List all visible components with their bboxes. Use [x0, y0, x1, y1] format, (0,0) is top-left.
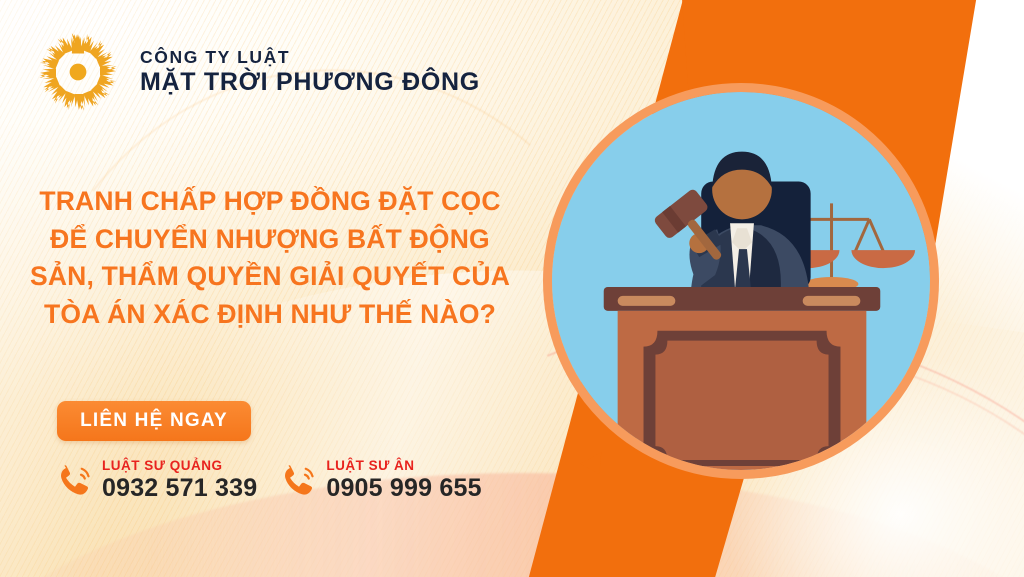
brand-line-1: CÔNG TY LUẬT — [140, 48, 480, 67]
page-title: TRANH CHẤP HỢP ĐỒNG ĐẶT CỌC ĐỂ CHUYỂN NH… — [0, 183, 540, 334]
contact-number[interactable]: 0905 999 655 — [326, 475, 481, 501]
contact-now-button[interactable]: LIÊN HỆ NGAY — [57, 401, 251, 441]
headline-line-1: TRANH CHẤP HỢP ĐỒNG ĐẶT CỌC — [0, 183, 540, 221]
illustration-circle — [543, 83, 939, 479]
circle-ring — [543, 83, 939, 479]
contact-name: LUẬT SƯ QUẢNG — [102, 459, 257, 473]
ring-arrow-left-icon — [580, 452, 610, 479]
brand-line-2: MẶT TRỜI PHƯƠNG ĐÔNG — [140, 69, 480, 96]
headline-line-4: TÒA ÁN XÁC ĐỊNH NHƯ THẾ NÀO? — [0, 296, 540, 334]
headline-line-3: SẢN, THẨM QUYỀN GIẢI QUYẾT CỦA — [0, 258, 540, 296]
brand-logo[interactable]: CÔNG TY LUẬT MẶT TRỜI PHƯƠNG ĐÔNG — [34, 28, 480, 116]
contact-item-an[interactable]: LUẬT SƯ ÂN 0905 999 655 — [281, 459, 481, 501]
contact-number[interactable]: 0932 571 339 — [102, 475, 257, 501]
contact-name: LUẬT SƯ ÂN — [326, 459, 481, 473]
phone-icon — [281, 462, 317, 498]
banner: CÔNG TY LUẬT MẶT TRỜI PHƯƠNG ĐÔNG TRANH … — [0, 0, 1024, 577]
contact-item-quang[interactable]: LUẬT SƯ QUẢNG 0932 571 339 — [57, 459, 257, 501]
brand-name: CÔNG TY LUẬT MẶT TRỜI PHƯƠNG ĐÔNG — [140, 48, 480, 95]
contact-list: LUẬT SƯ QUẢNG 0932 571 339 LUẬT SƯ ÂN 09… — [57, 459, 482, 501]
headline-line-2: ĐỂ CHUYỂN NHƯỢNG BẤT ĐỘNG — [0, 221, 540, 259]
phone-icon — [57, 462, 93, 498]
sunburst-icon — [34, 28, 122, 116]
